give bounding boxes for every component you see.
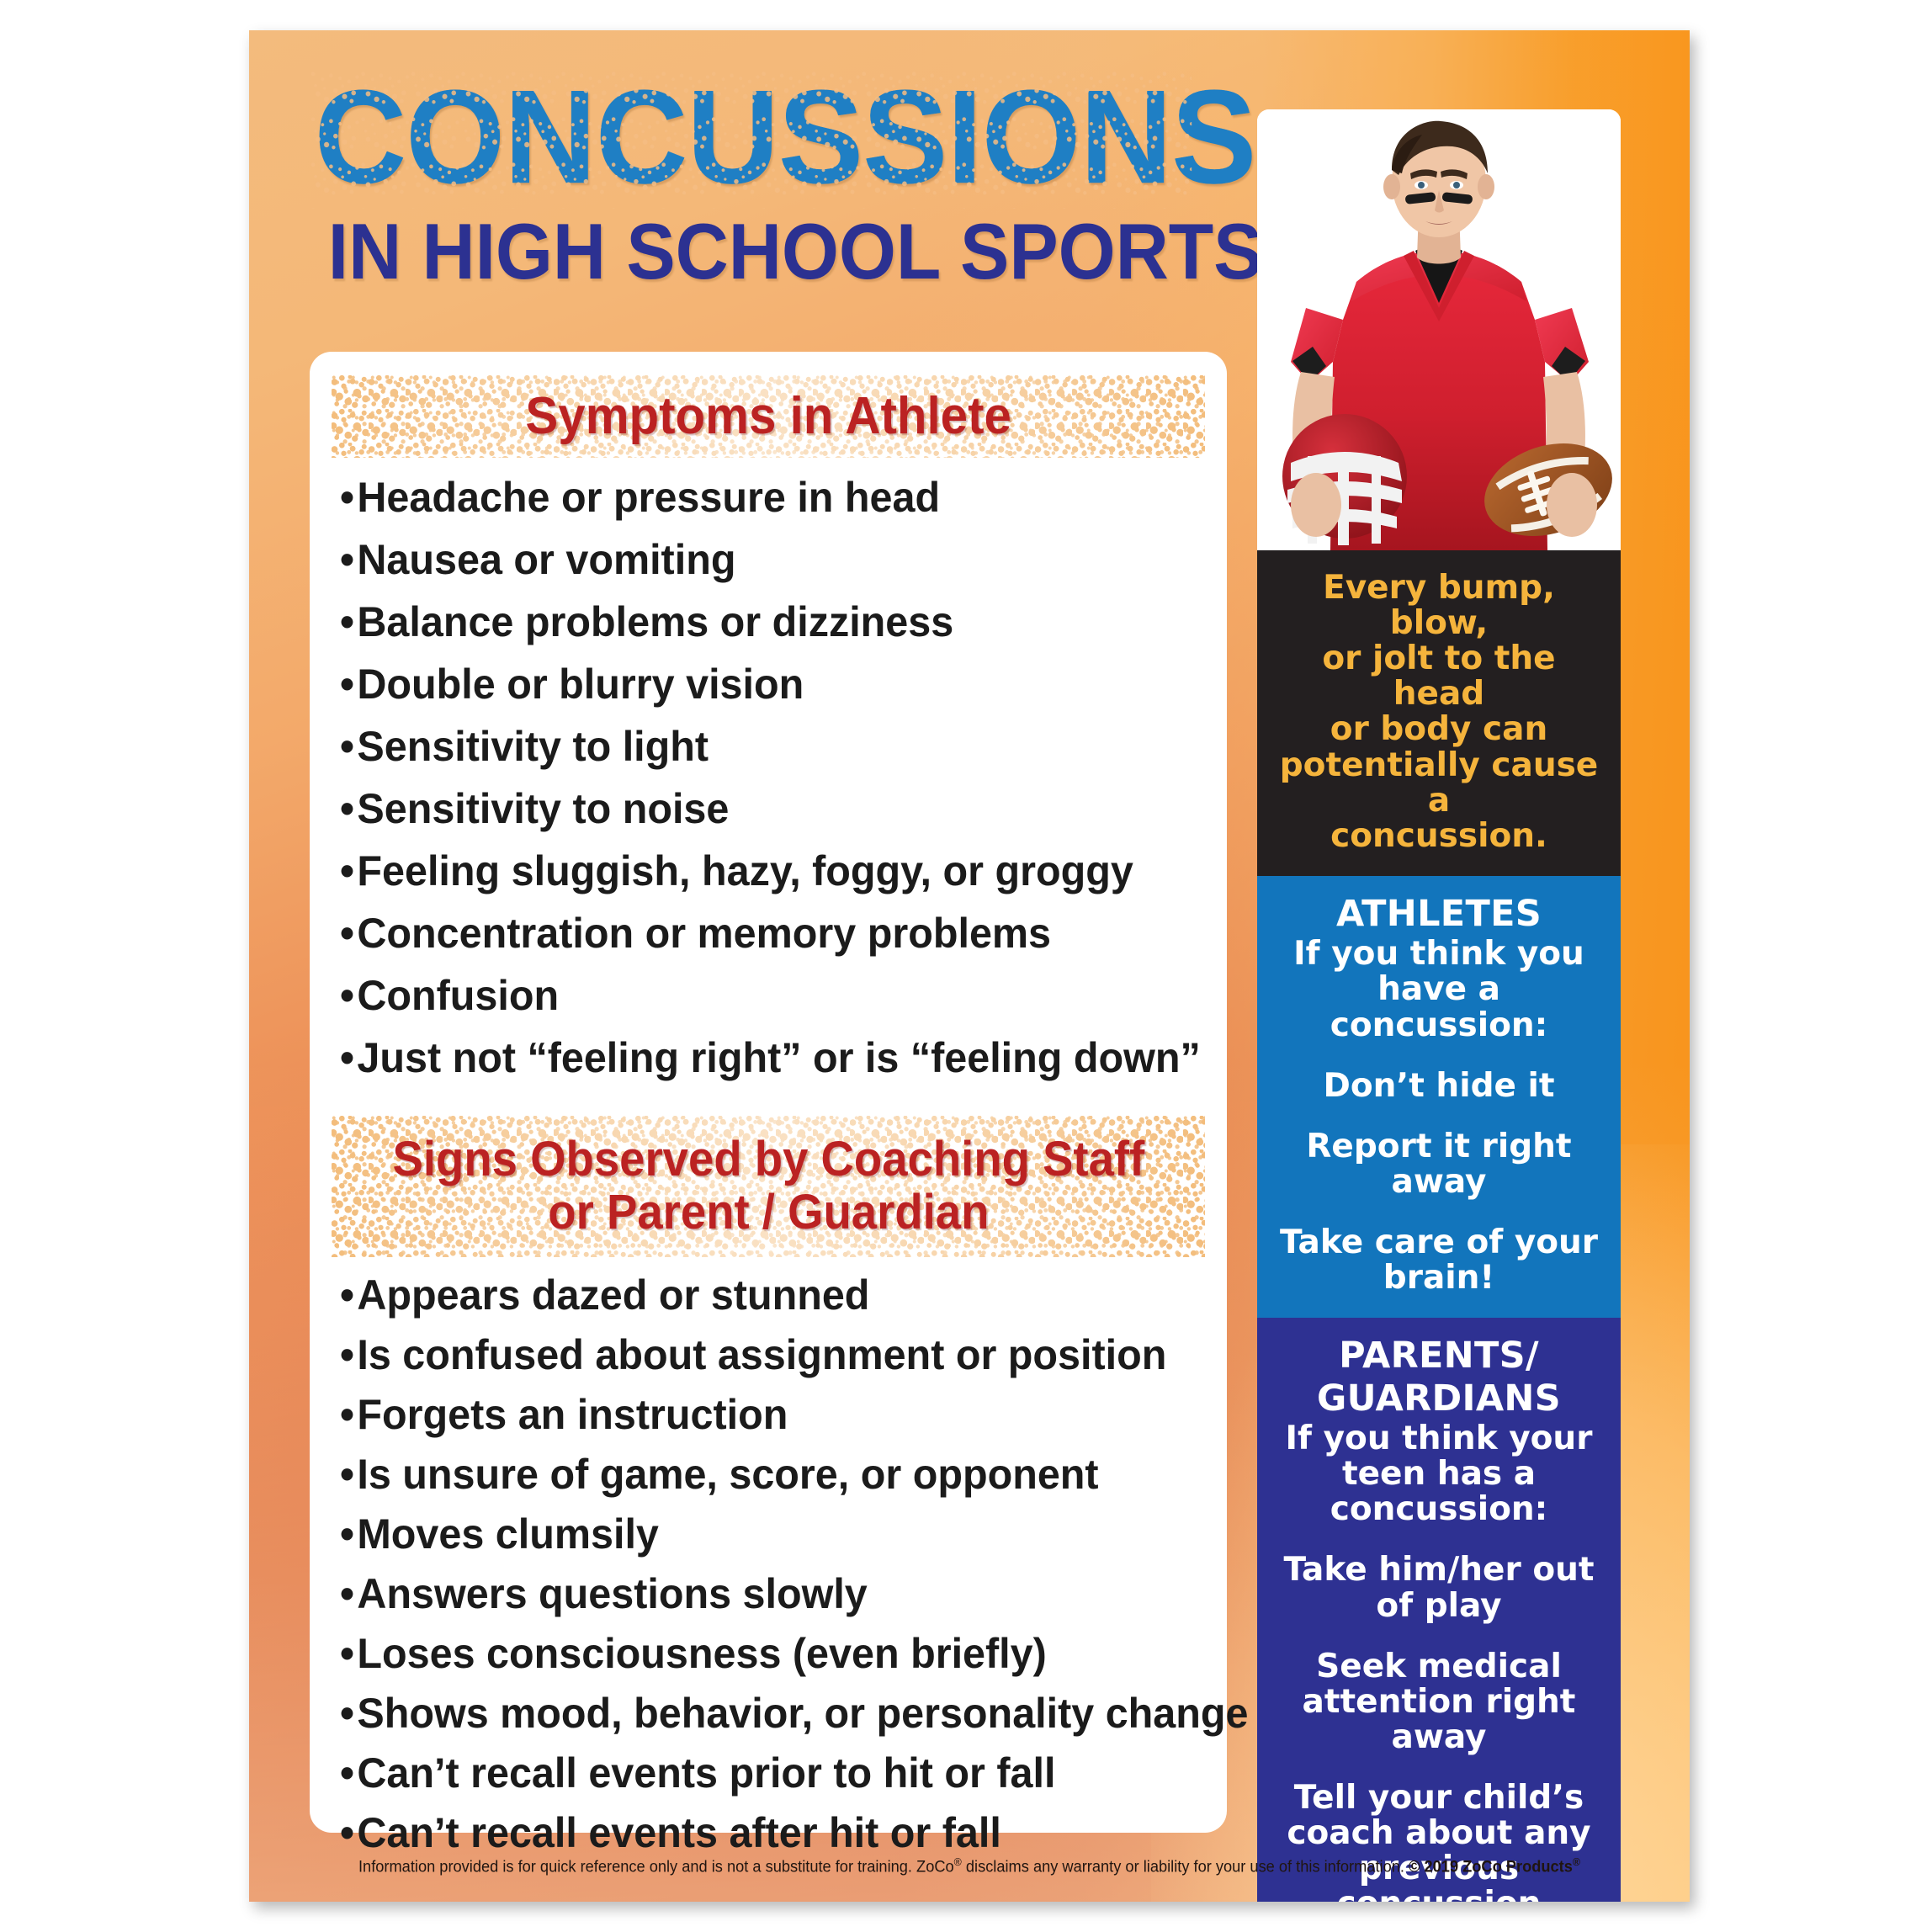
spacer — [1272, 1527, 1606, 1552]
bullet-dot-icon: • — [340, 1692, 357, 1734]
list-item: •Balance problems or dizziness — [340, 601, 1179, 643]
bullet-dot-icon: • — [340, 788, 357, 830]
bullet-dot-icon: • — [340, 1632, 357, 1675]
athletes-box-heading: ATHLETES — [1272, 894, 1606, 933]
list-item: •Can’t recall events after hit or fall — [340, 1812, 1179, 1854]
list-item: •Just not “feeling right” or is “feeling… — [340, 1037, 1179, 1079]
spacer — [1272, 1104, 1606, 1129]
list-item: •Nausea or vomiting — [340, 539, 1179, 581]
list-item-label: Appears dazed or stunned — [357, 1271, 869, 1319]
list-item-label: Can’t recall events prior to hit or fall — [357, 1749, 1055, 1797]
list-item-label: Loses consciousness (even briefly) — [357, 1630, 1046, 1677]
poster: CONCUSSIONS IN HIGH SCHOOL SPORTS Sympto… — [249, 30, 1690, 1902]
bullet-dot-icon: • — [340, 1513, 357, 1555]
parents-box-point: Take him/her out of play — [1272, 1552, 1606, 1623]
bullet-dot-icon: • — [340, 850, 357, 892]
parents-guardians-box: PARENTS/ GUARDIANS If you think your tee… — [1257, 1318, 1621, 1902]
list-item: •Shows mood, behavior, or personality ch… — [340, 1692, 1179, 1734]
list-item-label: Sensitivity to noise — [357, 785, 729, 832]
football-player-illustration — [1257, 109, 1621, 550]
list-item-label: Headache or pressure in head — [357, 474, 940, 521]
list-item-label: Shows mood, behavior, or personality cha… — [357, 1690, 1248, 1737]
list-item: •Is unsure of game, score, or opponent — [340, 1453, 1179, 1495]
list-item: •Sensitivity to light — [340, 725, 1179, 767]
bullet-dot-icon: • — [340, 601, 357, 643]
spacer — [1272, 1200, 1606, 1225]
signs-list: •Appears dazed or stunned •Is confused a… — [310, 1257, 1227, 1854]
list-item-label: Double or blurry vision — [357, 661, 804, 708]
bullet-dot-icon: • — [340, 1334, 357, 1376]
spacer — [1272, 1043, 1606, 1069]
bullet-dot-icon: • — [340, 912, 357, 954]
bullet-dot-icon: • — [340, 1752, 357, 1794]
warning-line: potentially cause a — [1272, 748, 1606, 819]
bullet-dot-icon: • — [340, 1812, 357, 1854]
list-item: •Moves clumsily — [340, 1513, 1179, 1555]
list-item: •Is confused about assignment or positio… — [340, 1334, 1179, 1376]
list-item-label: Is confused about assignment or position — [357, 1331, 1166, 1378]
list-item: •Feeling sluggish, hazy, foggy, or grogg… — [340, 850, 1179, 892]
list-item-label: Forgets an instruction — [357, 1391, 788, 1438]
list-item-label: Balance problems or dizziness — [357, 598, 953, 645]
section-heading-signs: Signs Observed by Coaching Staff or Pare… — [332, 1116, 1205, 1257]
spacer — [1272, 1624, 1606, 1649]
section-heading-symptoms: Symptoms in Athlete — [332, 375, 1205, 458]
page-title-text: CONCUSSIONS — [315, 63, 1256, 211]
warning-box: Every bump, blow, or jolt to the head or… — [1257, 550, 1621, 876]
list-item-label: Can’t recall events after hit or fall — [357, 1809, 1000, 1856]
bullet-dot-icon: • — [340, 476, 357, 518]
athletes-box-point: Take care of your brain! — [1272, 1225, 1606, 1296]
list-item-label: Concentration or memory problems — [357, 910, 1051, 957]
footer-copyright: © 2019 ZoCo Products — [1409, 1858, 1573, 1876]
bullet-dot-icon: • — [340, 1453, 357, 1495]
athletes-box-point: Report it right away — [1272, 1129, 1606, 1200]
title-block: CONCUSSIONS IN HIGH SCHOOL SPORTS — [296, 71, 1205, 291]
bullet-dot-icon: • — [340, 1274, 357, 1316]
section-heading-signs-label: Signs Observed by Coaching Staff or Pare… — [392, 1133, 1144, 1239]
symptoms-list: •Headache or pressure in head •Nausea or… — [310, 458, 1227, 1079]
footer-text-1: Information provided is for quick refere… — [358, 1858, 954, 1876]
poster-canvas: CONCUSSIONS IN HIGH SCHOOL SPORTS Sympto… — [249, 30, 1690, 1902]
list-item-label: Sensitivity to light — [357, 723, 709, 770]
bullet-dot-icon: • — [340, 725, 357, 767]
warning-line: concussion. — [1272, 819, 1606, 854]
list-item: •Can’t recall events prior to hit or fal… — [340, 1752, 1179, 1794]
list-item: •Appears dazed or stunned — [340, 1274, 1179, 1316]
list-item-label: Moves clumsily — [357, 1510, 659, 1558]
list-item: •Headache or pressure in head — [340, 476, 1179, 518]
section-heading-signs-line2: or Parent / Guardian — [392, 1186, 1144, 1239]
warning-line: Every bump, blow, — [1272, 571, 1606, 641]
athletes-box-intro: If you think you have a concussion: — [1272, 937, 1606, 1043]
warning-line: or jolt to the head — [1272, 641, 1606, 712]
football-player-photo — [1257, 109, 1621, 550]
section-heading-symptoms-label: Symptoms in Athlete — [525, 389, 1011, 445]
bullet-dot-icon: • — [340, 539, 357, 581]
list-item: •Confusion — [340, 974, 1179, 1016]
parents-box-heading-line1: PARENTS/ — [1272, 1336, 1606, 1375]
list-item: •Concentration or memory problems — [340, 912, 1179, 954]
list-item-label: Answers questions slowly — [357, 1570, 867, 1617]
footer-text-2: disclaims any warranty or liability for … — [962, 1858, 1409, 1876]
bullet-dot-icon: • — [340, 1037, 357, 1079]
parents-box-point: Tell your child’s coach about any previo… — [1272, 1781, 1606, 1902]
list-item-label: Just not “feeling right” or is “feeling … — [357, 1034, 1200, 1081]
athletes-box-point: Don’t hide it — [1272, 1069, 1606, 1104]
athletes-box: ATHLETES If you think you have a concuss… — [1257, 876, 1621, 1318]
bullet-dot-icon: • — [340, 1573, 357, 1615]
parents-box-intro: If you think your teen has a concussion: — [1272, 1421, 1606, 1527]
registered-mark-icon: ® — [1573, 1855, 1580, 1868]
page-subtitle: IN HIGH SCHOOL SPORTS — [328, 212, 1173, 291]
parents-box-point: Seek medical attention right away — [1272, 1649, 1606, 1755]
list-item: •Loses consciousness (even briefly) — [340, 1632, 1179, 1675]
list-item: •Forgets an instruction — [340, 1393, 1179, 1436]
list-item-label: Nausea or vomiting — [357, 536, 735, 583]
section-heading-signs-line1: Signs Observed by Coaching Staff — [392, 1133, 1144, 1186]
bullet-dot-icon: • — [340, 663, 357, 705]
content-card: Symptoms in Athlete •Headache or pressur… — [310, 352, 1227, 1833]
bullet-dot-icon: • — [340, 974, 357, 1016]
right-rail: Every bump, blow, or jolt to the head or… — [1257, 109, 1621, 1902]
list-item: •Answers questions slowly — [340, 1573, 1179, 1615]
list-item-label: Is unsure of game, score, or opponent — [357, 1451, 1098, 1498]
warning-line: or body can — [1272, 712, 1606, 747]
list-item-label: Feeling sluggish, hazy, foggy, or groggy — [357, 847, 1133, 894]
list-item: •Sensitivity to noise — [340, 788, 1179, 830]
spacer — [1272, 1755, 1606, 1781]
footer-disclaimer: Information provided is for quick refere… — [278, 1855, 1661, 1876]
list-item: •Double or blurry vision — [340, 663, 1179, 705]
parents-box-heading-line2: GUARDIANS — [1272, 1379, 1606, 1418]
bullet-dot-icon: • — [340, 1393, 357, 1436]
list-item-label: Confusion — [357, 972, 559, 1019]
page-title: CONCUSSIONS — [315, 71, 1187, 204]
